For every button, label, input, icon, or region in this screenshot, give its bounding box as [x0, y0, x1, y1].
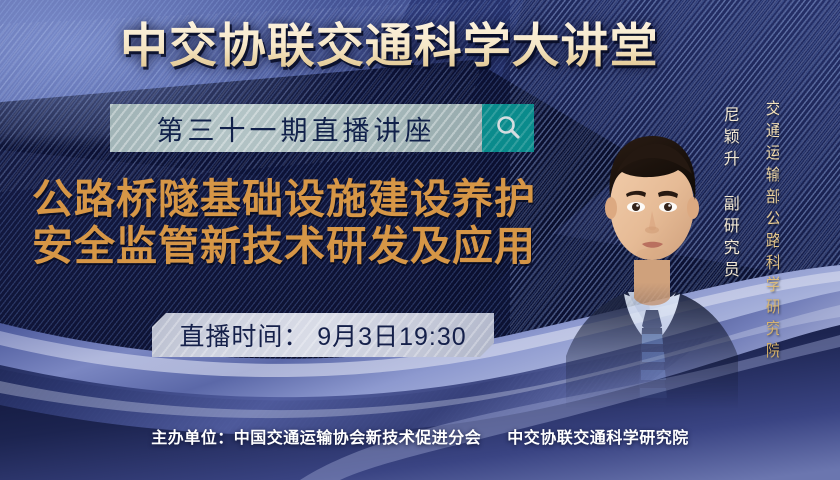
- episode-banner: 第三十一期直播讲座: [110, 104, 534, 152]
- episode-label-container: 第三十一期直播讲座: [110, 104, 482, 152]
- speaker-name-title: 尼颖升 副研究员: [720, 106, 737, 283]
- lecture-title: 公路桥隧基础设施建设养护 安全监管新技术研发及应用: [32, 176, 592, 270]
- footer-prefix: 主办单位：: [151, 430, 234, 447]
- lecture-title-line-1: 公路桥隧基础设施建设养护: [32, 176, 592, 223]
- footer-org-2: 中交协联交通科学研究院: [507, 430, 689, 447]
- footer-organizers: 主办单位：中国交通运输协会新技术促进分会中交协联交通科学研究院: [0, 424, 840, 448]
- webinar-poster: 中交协联交通科学大讲堂 第三十一期直播讲座 公路桥隧基础设施建设养护 安全监管新…: [0, 0, 840, 480]
- broadcast-time-badge: 直播时间： 9月3日19:30: [152, 313, 494, 357]
- speaker-organization: 交通运输部公路科学研究院: [762, 100, 779, 364]
- page-title: 中交协联交通科学大讲堂: [120, 16, 701, 78]
- broadcast-time-text: 直播时间： 9月3日19:30: [179, 317, 466, 353]
- search-icon[interactable]: [482, 104, 534, 152]
- episode-label: 第三十一期直播讲座: [157, 109, 436, 148]
- lecture-title-line-2: 安全监管新技术研发及应用: [32, 223, 592, 270]
- footer-org-1: 中国交通运输协会新技术促进分会: [234, 430, 482, 447]
